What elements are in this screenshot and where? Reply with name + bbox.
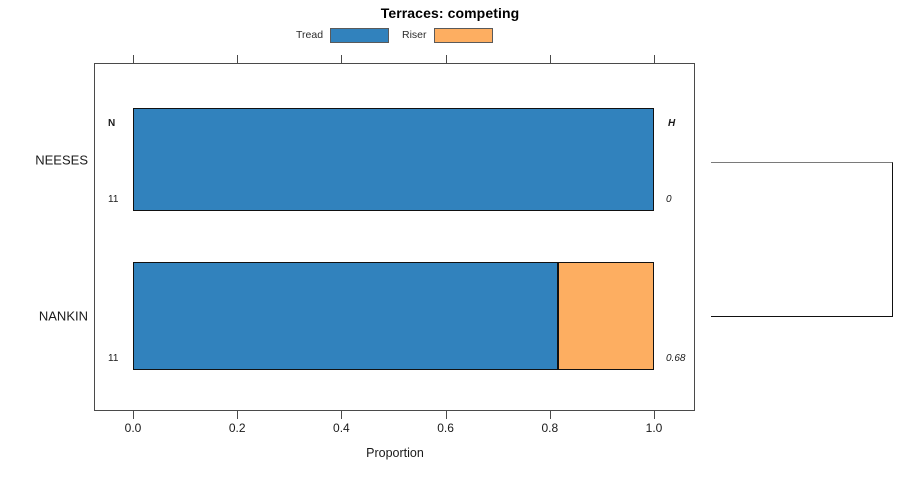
y-axis-label-neeses: NEESES (0, 153, 88, 168)
bar-annotation: 11 (108, 194, 118, 205)
legend-item-tread: Tread (296, 26, 389, 44)
x-axis-tick-label: 0.2 (229, 421, 246, 435)
legend-item-riser: Riser (402, 26, 493, 44)
chart-figure: Terraces: competing Tread Riser 0.00.20.… (0, 0, 900, 480)
x-axis-tick (133, 411, 134, 419)
legend-label-riser: Riser (402, 30, 427, 41)
bar-segment-tread (133, 108, 654, 211)
x-axis-tick (237, 411, 238, 419)
x-axis-tick-label: 1.0 (646, 421, 663, 435)
bar-row (133, 262, 654, 370)
x-axis-tick-label: 0.6 (437, 421, 454, 435)
x-axis-tick (133, 55, 134, 63)
y-axis-label-nankin: NANKIN (0, 309, 88, 324)
side-panel (711, 162, 893, 317)
x-axis-tick-label: 0.8 (541, 421, 558, 435)
x-axis-title: Proportion (0, 446, 790, 460)
x-axis-tick (446, 55, 447, 63)
x-axis-tick (654, 55, 655, 63)
bar-annotation: 0 (666, 194, 672, 205)
x-axis-tick (237, 55, 238, 63)
bar-annotation: 11 (108, 353, 118, 364)
x-axis-tick (446, 411, 447, 419)
chart-legend: Tread Riser (296, 26, 496, 44)
bar-segment-tread (133, 262, 558, 370)
x-axis-tick (550, 55, 551, 63)
chart-title: Terraces: competing (0, 5, 900, 21)
bar-annotation: H (668, 118, 675, 129)
x-axis-tick-label: 0.4 (333, 421, 350, 435)
bar-annotation: N (108, 118, 115, 129)
x-axis-tick-label: 0.0 (125, 421, 142, 435)
bar-row (133, 108, 654, 211)
x-axis-tick (654, 411, 655, 419)
bar-segment-riser (558, 262, 654, 370)
x-axis-tick (550, 411, 551, 419)
legend-swatch-riser (434, 28, 493, 43)
legend-label-tread: Tread (296, 30, 323, 41)
x-axis-tick (341, 411, 342, 419)
x-axis-tick (341, 55, 342, 63)
legend-swatch-tread (330, 28, 389, 43)
bar-annotation: 0.68 (666, 353, 685, 364)
